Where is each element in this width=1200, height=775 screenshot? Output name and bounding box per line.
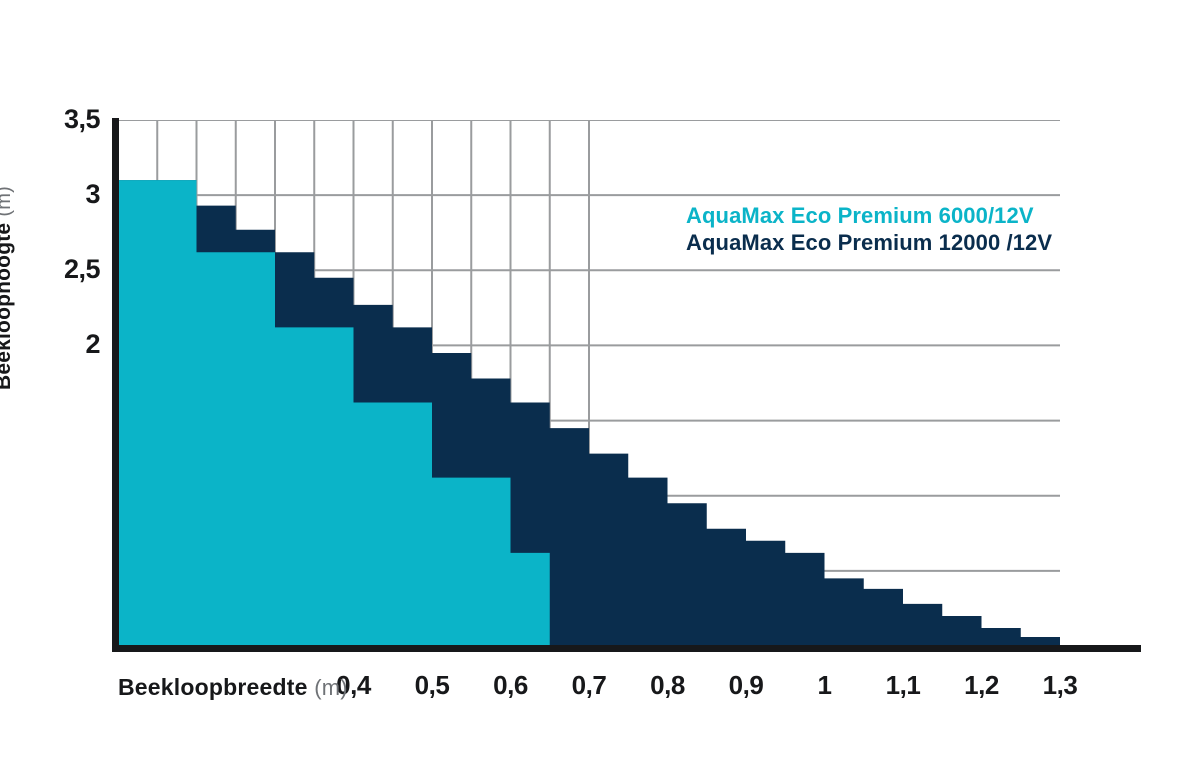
x-axis-tick-1: 1 [785, 672, 865, 698]
x-axis-title-text: Beekloopbreedte [118, 674, 308, 700]
x-axis-tick-0-5: 0,5 [392, 672, 472, 698]
x-axis-tick-0-6: 0,6 [471, 672, 551, 698]
x-axis-tick-1-3: 1,3 [1020, 672, 1100, 698]
x-axis-tick-1-2: 1,2 [942, 672, 1022, 698]
x-axis-tick-0-9: 0,9 [706, 672, 786, 698]
chart-legend: AquaMax Eco Premium 6000/12VAquaMax Eco … [686, 203, 1052, 257]
y-axis-line [112, 118, 119, 652]
legend-entry-2: AquaMax Eco Premium 12000 /12V [686, 230, 1052, 257]
x-axis-tick-0-8: 0,8 [628, 672, 708, 698]
y-axis-unit: (m) [0, 186, 15, 217]
y-axis-title: Beekloophoogte (m) [0, 70, 16, 390]
chart-series-layer [118, 120, 1060, 646]
plot-area [118, 120, 1060, 646]
x-axis-tick-0-7: 0,7 [549, 672, 629, 698]
x-axis-tick-1-1: 1,1 [863, 672, 943, 698]
x-axis-title: Beekloopbreedte (m) [118, 674, 348, 701]
x-axis-line [112, 645, 1141, 652]
chart-container: 3,532,52 Beekloophoogte (m) 0,40,50,60,7… [0, 0, 1200, 775]
legend-entry-1: AquaMax Eco Premium 6000/12V [686, 203, 1052, 230]
x-axis-unit: (m) [314, 675, 348, 700]
y-axis-title-text: Beekloophoogte [0, 223, 15, 390]
